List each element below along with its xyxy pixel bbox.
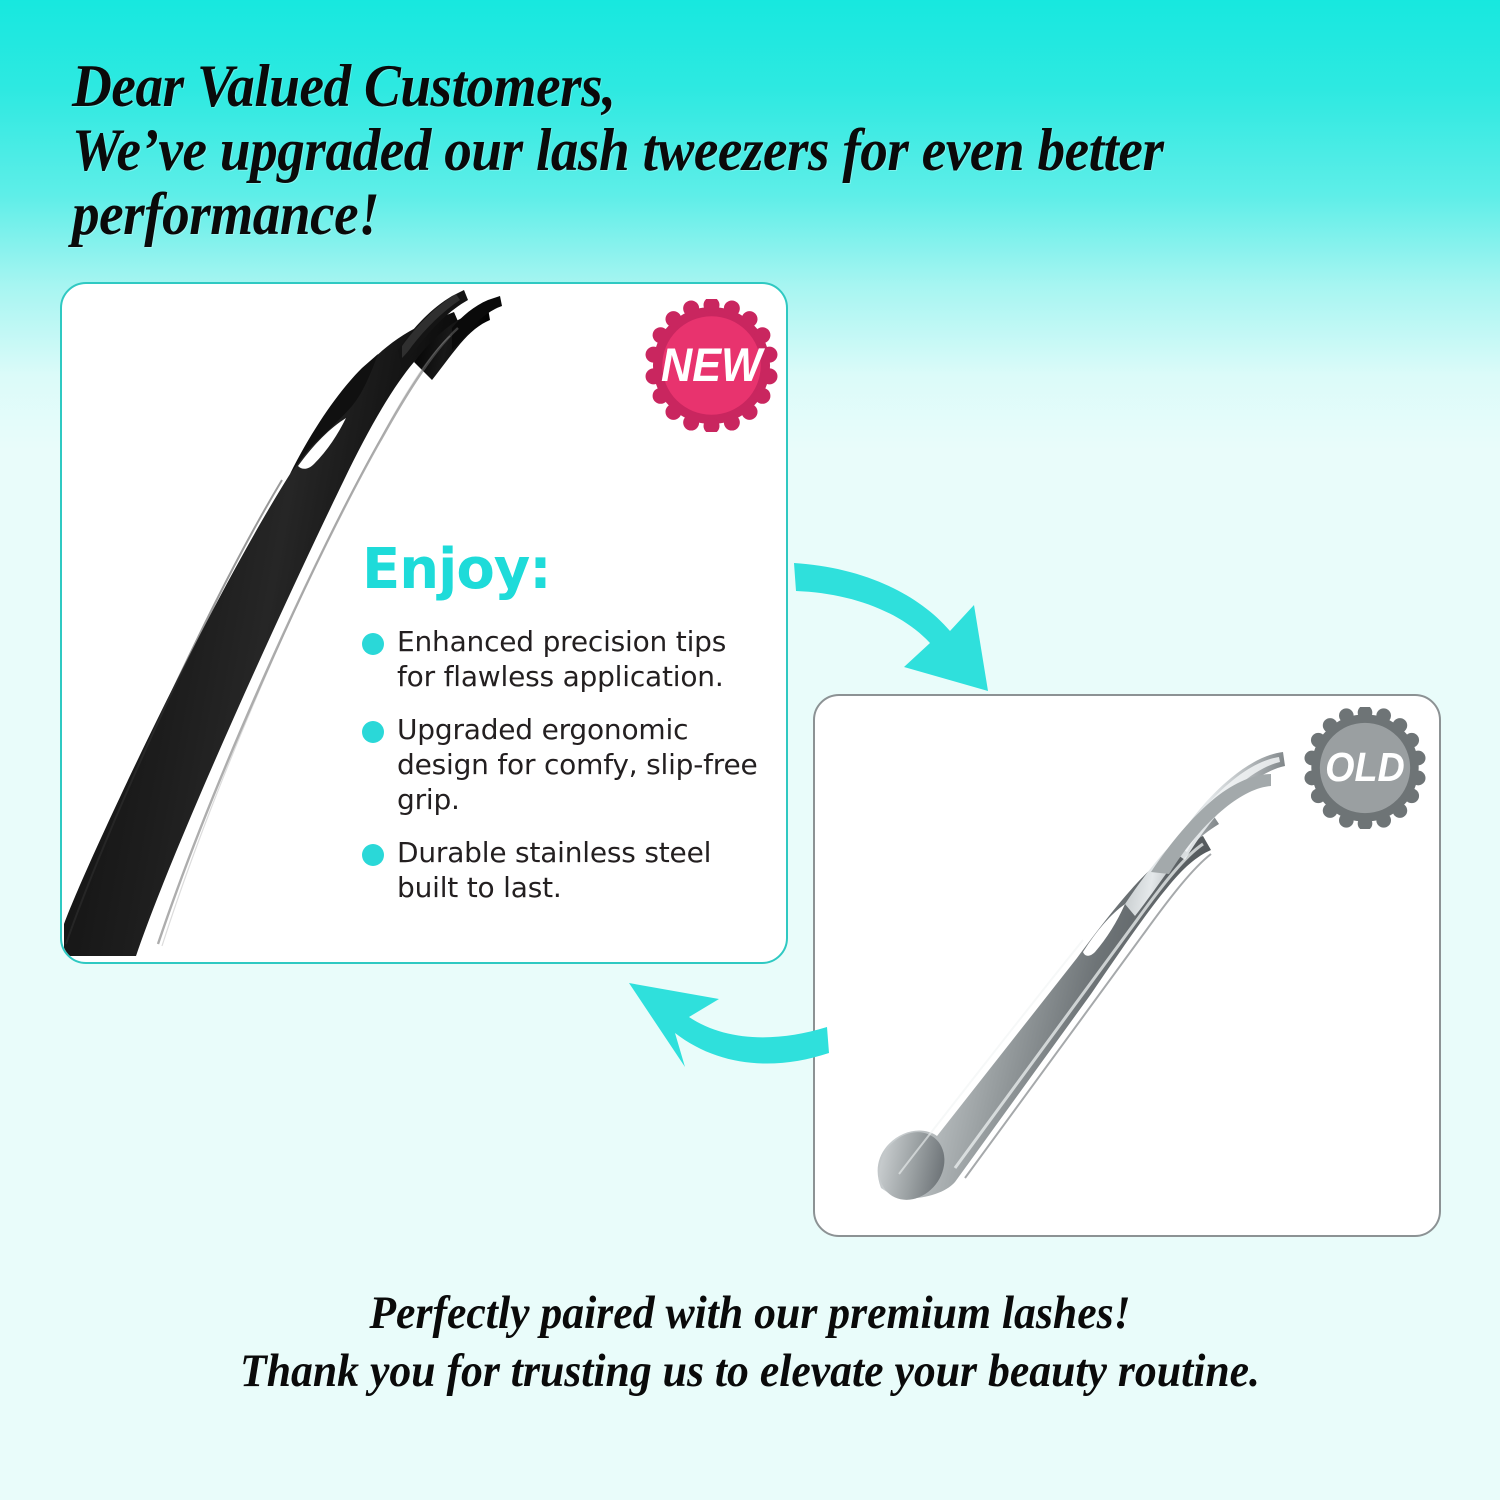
old-badge: OLD	[1304, 707, 1426, 829]
list-item: Upgraded ergonomic design for comfy, sli…	[362, 712, 772, 817]
benefit-text: Enhanced precision tips for flawless app…	[397, 624, 772, 694]
bullet-dot-icon	[362, 721, 384, 743]
new-badge-label: NEW	[650, 298, 772, 431]
old-badge-label: OLD	[1309, 706, 1421, 828]
benefit-text: Upgraded ergonomic design for comfy, sli…	[397, 712, 772, 817]
bullet-dot-icon	[362, 633, 384, 655]
page-headline: Dear Valued Customers, We’ve upgraded ou…	[72, 54, 1342, 246]
curved-arrow-down-right-icon	[788, 545, 1008, 695]
benefit-text: Durable stainless steel built to last.	[397, 835, 772, 905]
enjoy-heading: Enjoy:	[362, 540, 772, 600]
list-item: Enhanced precision tips for flawless app…	[362, 624, 772, 694]
enjoy-benefits-block: Enjoy: Enhanced precision tips for flawl…	[362, 540, 772, 923]
headline-line-3: performance!	[72, 182, 1342, 246]
bullet-dot-icon	[362, 844, 384, 866]
headline-line-2: We’ve upgraded our lash tweezers for eve…	[72, 118, 1342, 182]
headline-line-1: Dear Valued Customers,	[72, 54, 1342, 118]
footer-line-2: Thank you for trusting us to elevate you…	[53, 1342, 1448, 1400]
benefits-list: Enhanced precision tips for flawless app…	[362, 624, 772, 905]
new-badge: NEW	[645, 299, 778, 432]
footer-message: Perfectly paired with our premium lashes…	[0, 1284, 1500, 1400]
list-item: Durable stainless steel built to last.	[362, 835, 772, 905]
curved-arrow-up-left-icon	[615, 975, 835, 1115]
footer-line-1: Perfectly paired with our premium lashes…	[53, 1284, 1448, 1342]
